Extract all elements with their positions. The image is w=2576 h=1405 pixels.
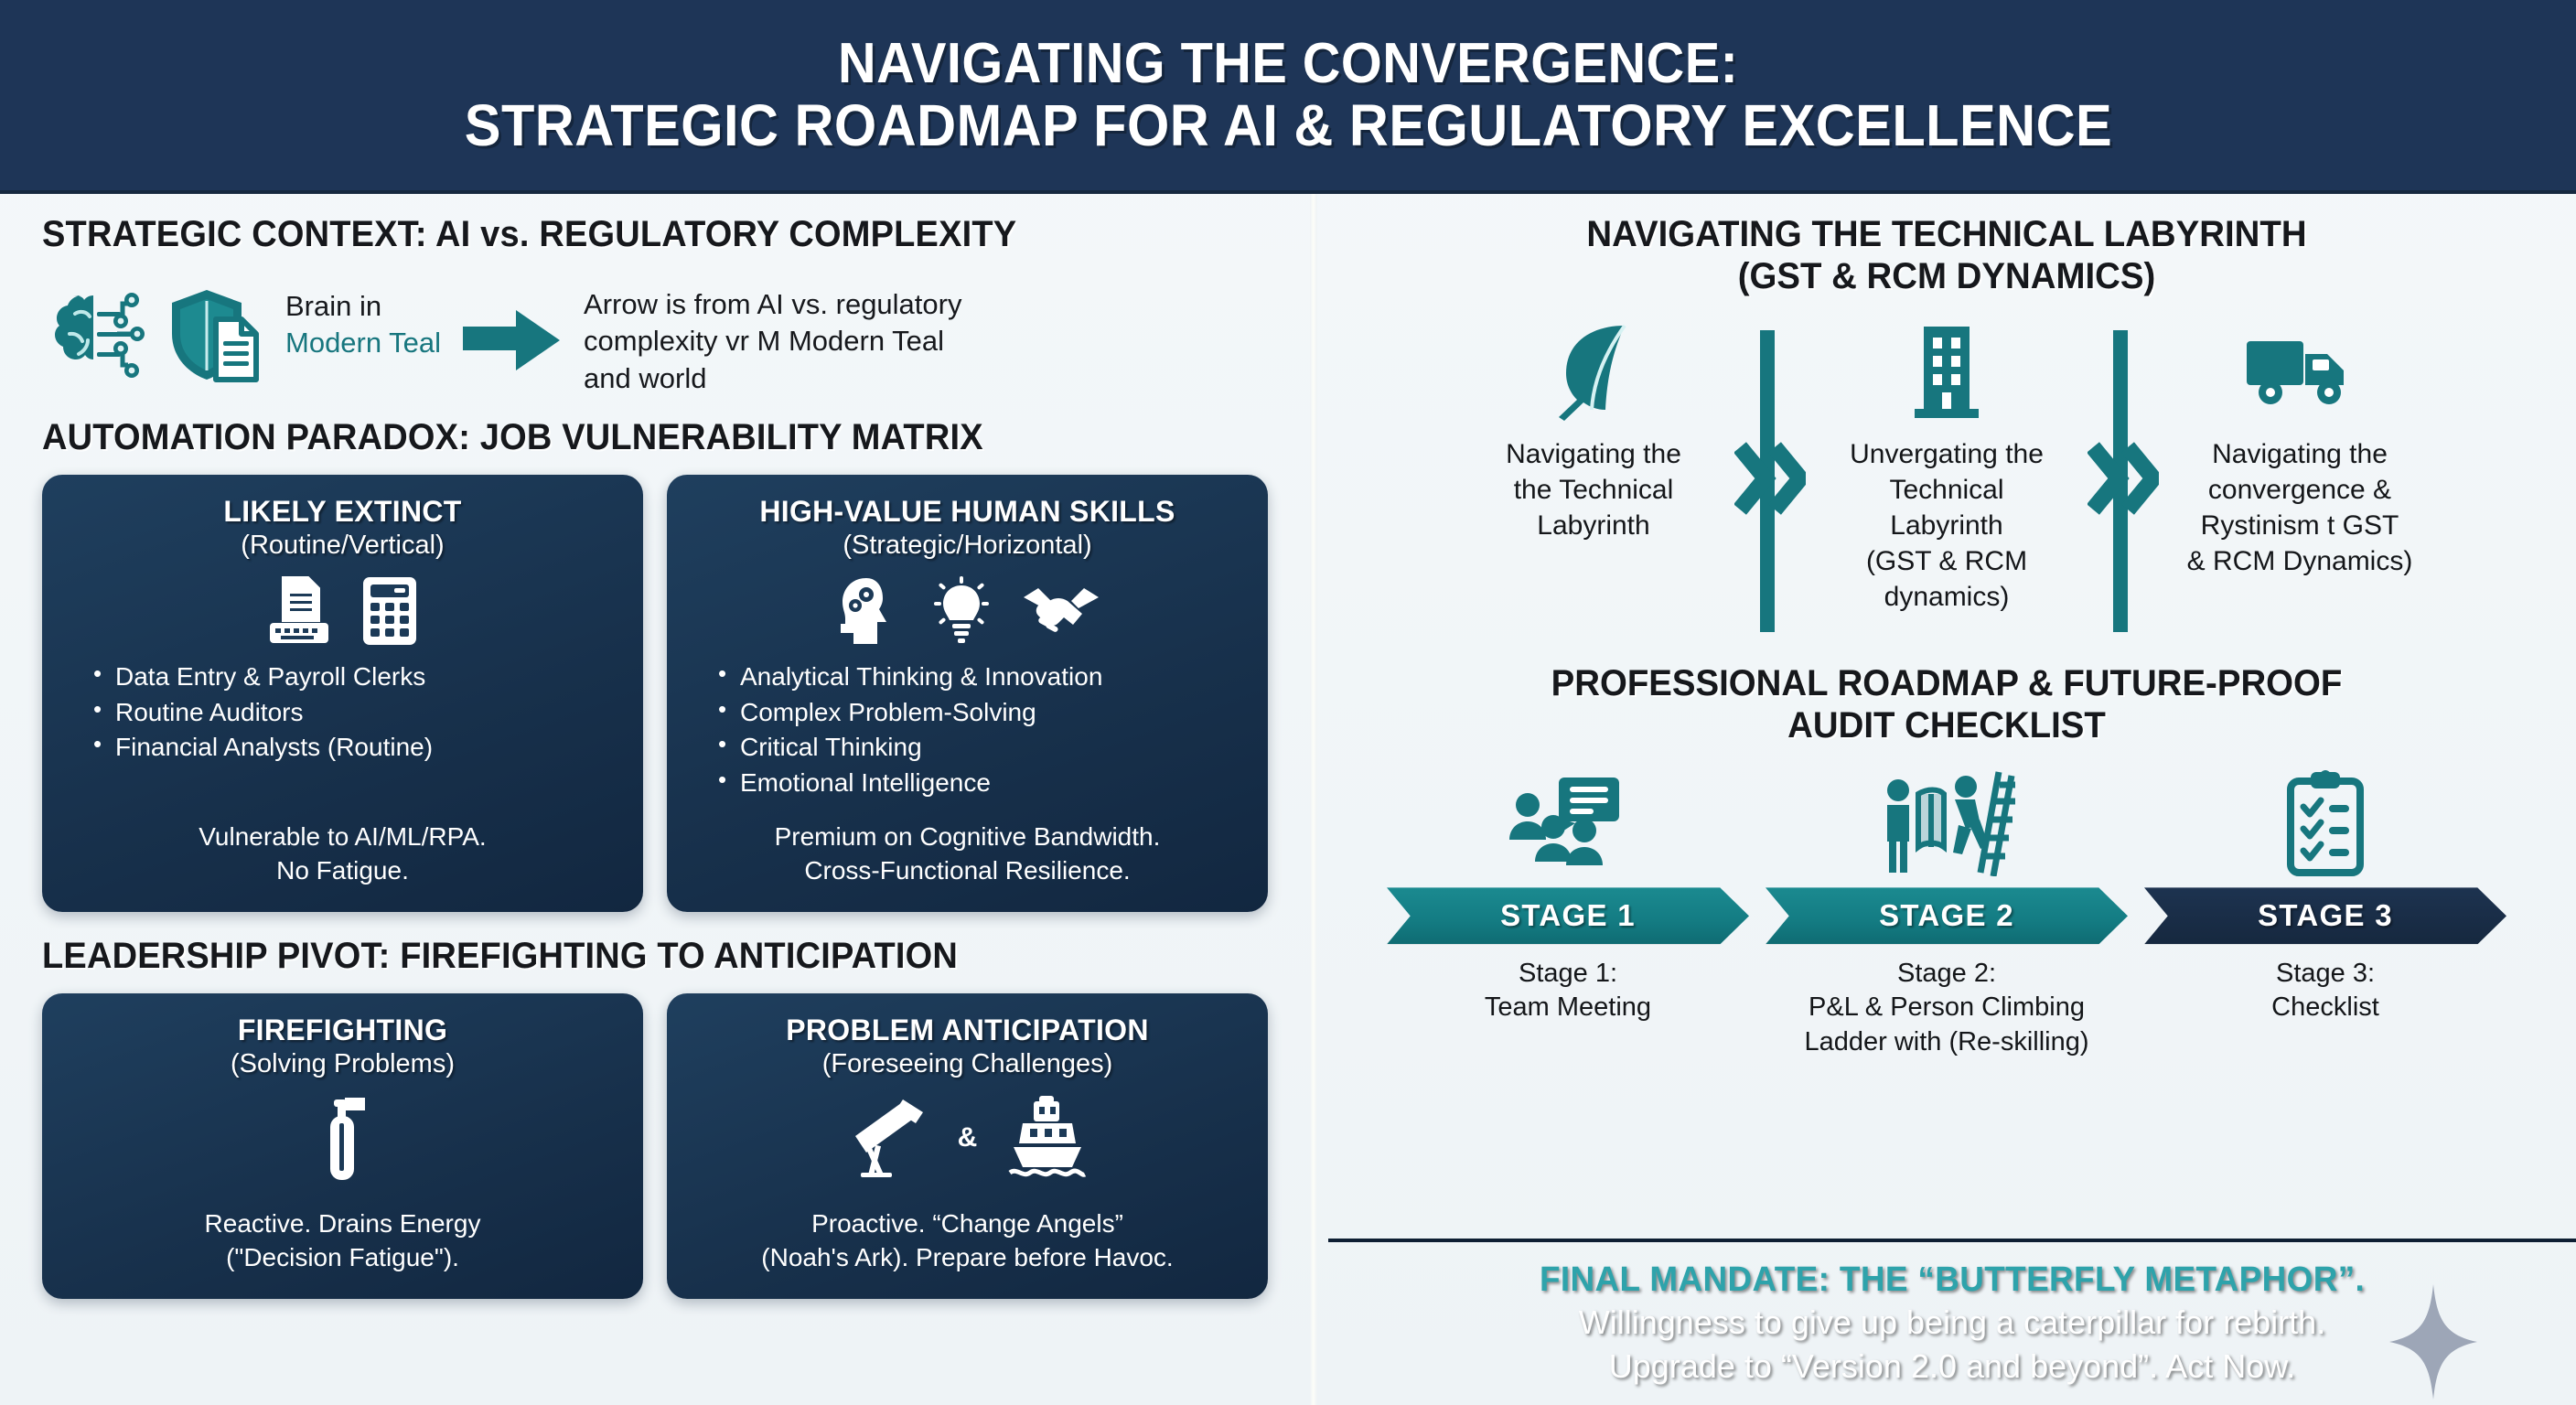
header-title-line-1: NAVIGATING THE CONVERGENCE:: [838, 35, 1738, 92]
column-divider: [1310, 194, 1317, 1405]
card-subtitle: (Strategic/Horizontal): [843, 531, 1091, 561]
list-item: Routine Auditors: [91, 695, 433, 731]
leaf-icon: [1550, 321, 1637, 422]
page-header: NAVIGATING THE CONVERGENCE: STRATEGIC RO…: [0, 0, 2576, 194]
labyrinth-section: NAVIGATING THE TECHNICAL LABYRINTH (GST …: [1317, 194, 2576, 632]
lightbulb-icon: [932, 576, 991, 646]
infographic-page: NAVIGATING THE CONVERGENCE: STRATEGIC RO…: [0, 0, 2576, 1405]
stage-caption: Stage 2: P&L & Person Climbing Ladder wi…: [1804, 957, 2088, 1058]
card-footer-line-1: Proactive. “Change Angels”: [761, 1207, 1173, 1241]
card-footer: Reactive. Drains Energy ("Decision Fatig…: [205, 1195, 481, 1275]
card-footer-line-1: Vulnerable to AI/ML/RPA.: [199, 820, 486, 854]
stage-banner[interactable]: STAGE 2: [1766, 887, 2128, 944]
ctx-text1-line2: Modern Teal: [285, 325, 441, 361]
card-icons: &: [848, 1090, 1088, 1185]
labyrinth-title: NAVIGATING THE TECHNICAL LABYRINTH (GST …: [1378, 214, 2516, 297]
card-footer-line-2: Cross-Functional Resilience.: [775, 854, 1161, 888]
ai-brain-icon: [42, 286, 150, 385]
card-footer-line-1: Premium on Cognitive Bandwidth.: [775, 820, 1161, 854]
ctx-text1-line1: Brain in: [285, 288, 441, 325]
final-mandate-line-2: Upgrade to “Version 2.0 and beyond”. Act…: [1609, 1346, 2295, 1387]
delivery-truck-icon: [2245, 321, 2355, 422]
card-icons: [268, 575, 418, 647]
body-columns: STRATEGIC CONTEXT: AI vs. REGULATORY COM…: [0, 194, 2576, 1405]
card-title: HIGH-VALUE HUMAN SKILLS: [759, 495, 1175, 529]
left-column: STRATEGIC CONTEXT: AI vs. REGULATORY COM…: [0, 194, 1310, 1405]
stage-3: STAGE 3 Stage 3: Checklist: [2144, 767, 2506, 1058]
head-gears-icon: [835, 576, 901, 646]
document-keyboard-icon: [268, 575, 330, 647]
roadmap-stages: STAGE 1 Stage 1: Team Meeting: [1354, 767, 2539, 1058]
card-item-list: Analytical Thinking & Innovation Complex…: [716, 660, 1102, 801]
card-footer-line-2: (Noah's Ark). Prepare before Havoc.: [761, 1241, 1173, 1275]
ctx-text2-line2-teal: M Modern Teal: [757, 325, 944, 357]
card-title: PROBLEM ANTICIPATION: [786, 1014, 1149, 1047]
roadmap-section: PROFESSIONAL ROADMAP & FUTURE-PROOF AUDI…: [1317, 663, 2576, 1059]
right-column: NAVIGATING THE TECHNICAL LABYRINTH (GST …: [1317, 194, 2576, 1405]
stage-banner[interactable]: STAGE 1: [1387, 887, 1749, 944]
list-item: Financial Analysts (Routine): [91, 730, 433, 766]
card-footer-line-1: Reactive. Drains Energy: [205, 1207, 481, 1241]
shield-document-icon: [163, 284, 265, 387]
card-footer-line-2: ("Decision Fatigue").: [205, 1241, 481, 1275]
list-item: Data Entry & Payroll Clerks: [91, 660, 433, 695]
calculator-icon: [361, 575, 418, 647]
header-title-line-2: STRATEGIC ROADMAP FOR AI & REGULATORY EX…: [464, 96, 2111, 156]
card-firefighting: FIREFIGHTING (Solving Problems): [42, 993, 643, 1299]
team-meeting-icon: [1508, 767, 1628, 876]
handshake-icon: [1022, 583, 1100, 639]
strategic-context-row: Brain in Modern Teal Arrow is from AI vs…: [42, 279, 1268, 397]
card-footer: Proactive. “Change Angels” (Noah's Ark).…: [761, 1195, 1173, 1275]
person-climbing-ladder-icon: [1878, 767, 2015, 876]
list-item: Critical Thinking: [716, 730, 1102, 766]
labyrinth-title-line-2: (GST & RCM DYNAMICS): [1378, 256, 2516, 298]
telescope-icon: [848, 1096, 927, 1180]
labyrinth-item-1: Navigating the the Technical Labyrinth: [1456, 321, 1731, 543]
clipboard-checklist-icon: [2278, 767, 2373, 876]
final-mandate-heading: FINAL MANDATE: THE “BUTTERFLY METAPHOR”.: [1540, 1260, 2365, 1300]
stage-banner[interactable]: STAGE 3: [2144, 887, 2506, 944]
labyrinth-item-2: Unvergating the Technical Labyrinth (GST…: [1809, 321, 2084, 615]
building-icon: [1907, 321, 1986, 422]
ship-icon: [1008, 1096, 1087, 1180]
card-likely-extinct: LIKELY EXTINCT (Routine/Vertical): [42, 475, 643, 912]
card-footer: Vulnerable to AI/ML/RPA. No Fatigue.: [199, 800, 486, 888]
final-mandate-line-1: Willingness to give up being a caterpill…: [1579, 1302, 2325, 1343]
job-vulnerability-matrix: LIKELY EXTINCT (Routine/Vertical): [42, 475, 1268, 912]
automation-paradox-heading: AUTOMATION PARADOX: JOB VULNERABILITY MA…: [42, 417, 1207, 458]
stage-caption: Stage 1: Team Meeting: [1485, 957, 1651, 1024]
labyrinth-item-label: Navigating the the Technical Labyrinth: [1506, 436, 1681, 543]
card-icons: [317, 1090, 369, 1185]
ctx-text2-line2-plain: complexity vr: [584, 325, 757, 357]
list-item: Complex Problem-Solving: [716, 695, 1102, 731]
card-item-list: Data Entry & Payroll Clerks Routine Audi…: [91, 660, 433, 766]
sparkle-diamond-icon: [2389, 1284, 2477, 1400]
stage-banner-label: STAGE 3: [2258, 898, 2393, 933]
card-title: FIREFIGHTING: [238, 1014, 447, 1047]
chevron-right-divider: [1731, 321, 1809, 632]
ctx-text2-line1: Arrow is from AI vs. regulatory: [584, 286, 961, 323]
roadmap-title-line-1: PROFESSIONAL ROADMAP & FUTURE-PROOF: [1378, 663, 2516, 705]
labyrinth-flow: Navigating the the Technical Labyrinth: [1354, 321, 2539, 632]
card-problem-anticipation: PROBLEM ANTICIPATION (Foreseeing Challen…: [667, 993, 1268, 1299]
card-footer-line-2: No Fatigue.: [199, 854, 486, 888]
ctx-text2-line2: complexity vr M Modern Teal: [584, 323, 961, 359]
strategic-context-text-1: Brain in Modern Teal: [285, 279, 441, 362]
final-mandate-banner: FINAL MANDATE: THE “BUTTERFLY METAPHOR”.…: [1328, 1239, 2576, 1405]
chevron-right-divider: [2084, 321, 2163, 632]
card-subtitle: (Foreseeing Challenges): [822, 1049, 1113, 1079]
fire-extinguisher-icon: [317, 1092, 369, 1184]
labyrinth-item-label: Navigating the convergence & Rystinism t…: [2187, 436, 2413, 579]
list-item: Emotional Intelligence: [716, 766, 1102, 801]
card-icons: [835, 575, 1100, 647]
leadership-pivot-heading: LEADERSHIP PIVOT: FIREFIGHTING TO ANTICI…: [42, 936, 1207, 977]
card-high-value-human-skills: HIGH-VALUE HUMAN SKILLS (Strategic/Horiz…: [667, 475, 1268, 912]
card-subtitle: (Routine/Vertical): [241, 531, 444, 561]
labyrinth-item-3: Navigating the convergence & Rystinism t…: [2163, 321, 2437, 579]
strategic-context-icons: [42, 279, 265, 387]
roadmap-title-line-2: AUDIT CHECKLIST: [1378, 705, 2516, 747]
strategic-context-text-2: Arrow is from AI vs. regulatory complexi…: [584, 279, 961, 397]
card-title: LIKELY EXTINCT: [223, 495, 461, 529]
strategic-context-heading: STRATEGIC CONTEXT: AI vs. REGULATORY COM…: [42, 214, 1207, 255]
stage-1: STAGE 1 Stage 1: Team Meeting: [1387, 767, 1749, 1058]
roadmap-title: PROFESSIONAL ROADMAP & FUTURE-PROOF AUDI…: [1378, 663, 2516, 746]
card-footer: Premium on Cognitive Bandwidth. Cross-Fu…: [775, 800, 1161, 888]
stage-banner-label: STAGE 1: [1500, 898, 1636, 933]
ampersand-label: &: [958, 1122, 978, 1153]
card-subtitle: (Solving Problems): [231, 1049, 455, 1079]
leadership-pivot-cards: FIREFIGHTING (Solving Problems): [42, 993, 1268, 1299]
stage-banner-label: STAGE 2: [1879, 898, 2014, 933]
right-arrow-icon: [461, 279, 563, 374]
labyrinth-item-label: Unvergating the Technical Labyrinth (GST…: [1850, 436, 2044, 615]
stage-2: STAGE 2 Stage 2: P&L & Person Climbing L…: [1766, 767, 2128, 1058]
labyrinth-title-line-1: NAVIGATING THE TECHNICAL LABYRINTH: [1378, 214, 2516, 256]
list-item: Analytical Thinking & Innovation: [716, 660, 1102, 695]
ctx-text2-line3: and world: [584, 360, 961, 397]
stage-caption: Stage 3: Checklist: [2271, 957, 2379, 1024]
